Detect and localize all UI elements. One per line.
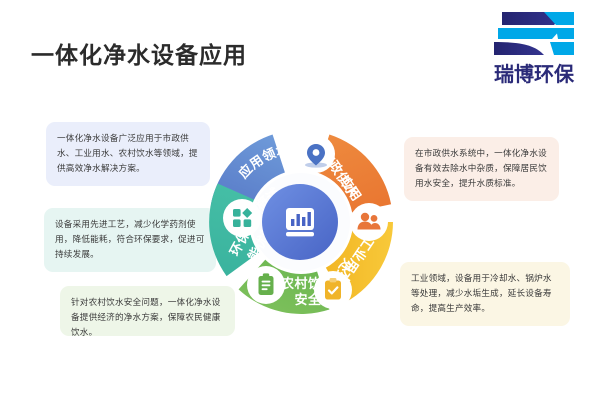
page-title: 一体化净水设备应用 — [31, 36, 247, 70]
callout-overview-text: 一体化净水设备广泛应用于市政供水、工业用水、农村饮水等领域，提供高效净水解决方案… — [57, 131, 199, 176]
callout-eco: 设备采用先进工艺，减少化学药剂使用，降低能耗，符合环保要求，促进可持续发展。 — [44, 208, 216, 272]
segment-icon-municipal[interactable] — [350, 203, 388, 241]
diagram-center-hub[interactable] — [255, 177, 345, 267]
callout-municipal-text: 在市政供水系统中，一体化净水设备有效去除水中杂质，保障居民饮用水安全，提升水质标… — [415, 146, 548, 191]
callout-eco-text: 设备采用先进工艺，减少化学药剂使用，降低能耗，符合环保要求，促进可持续发展。 — [55, 217, 205, 262]
segment-icon-overview[interactable] — [297, 135, 335, 173]
segment-icon-rural[interactable] — [247, 266, 285, 304]
callout-municipal: 在市政供水系统中，一体化净水设备有效去除水中杂质，保障居民饮用水安全，提升水质标… — [404, 137, 559, 201]
callout-industrial: 工业领域，设备用于冷却水、锅炉水等处理，减少水垢生成，延长设备寿命，提高生产效率… — [400, 262, 570, 326]
segment-icon-industrial[interactable] — [314, 271, 352, 309]
slide-canvas: 一体化净水设备应用 瑞博环保 一体化净水设备广泛应用于市政供水、工业用水、农村饮… — [0, 0, 600, 400]
callout-overview: 一体化净水设备广泛应用于市政供水、工业用水、农村饮水等领域，提供高效净水解决方案… — [46, 122, 210, 186]
center-bar-chart-icon — [286, 208, 314, 236]
callout-industrial-text: 工业领域，设备用于冷却水、锅炉水等处理，减少水垢生成，延长设备寿命，提高生产效率… — [411, 271, 559, 316]
brand-name: 瑞博环保 — [476, 58, 592, 87]
